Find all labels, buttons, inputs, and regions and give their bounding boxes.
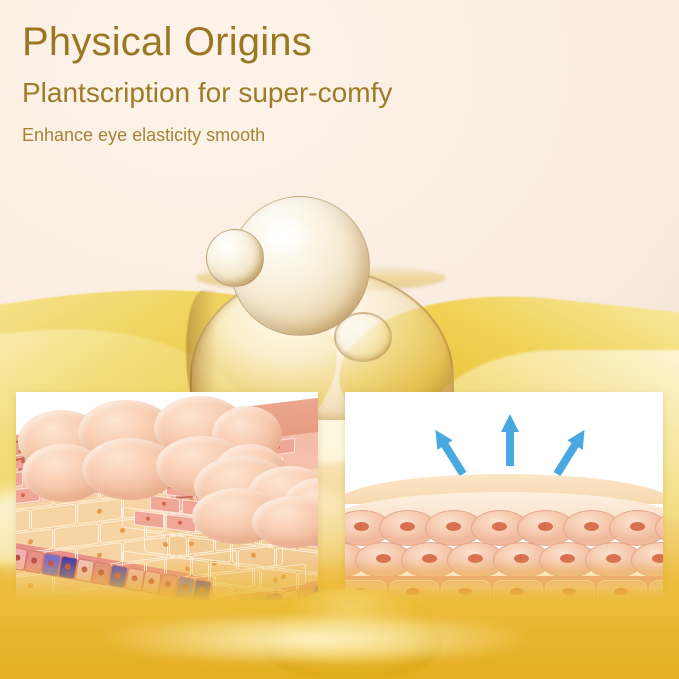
cell-nucleus: [400, 522, 415, 531]
papillary-dot: [178, 520, 182, 524]
papillary-dot: [146, 517, 150, 521]
large-sphere-highlight: [258, 214, 316, 256]
page-tagline: Enhance eye elasticity smooth: [22, 124, 642, 147]
cell-nucleus: [354, 522, 369, 531]
round-cell-row: [345, 510, 663, 544]
small-sphere: [206, 229, 264, 287]
dermis-dot: [251, 552, 256, 558]
hatch-line: [176, 496, 193, 498]
page-title: Physical Origins: [22, 20, 642, 65]
dermis-dot: [163, 542, 168, 548]
product-banner: Physical Origins Plantscription for supe…: [0, 0, 679, 679]
page-subtitle: Plantscription for super-comfy: [22, 75, 642, 110]
oil-dome-left-edge: [186, 290, 216, 408]
arrow-up: [501, 414, 519, 466]
cell-nucleus: [584, 522, 599, 531]
arrow-up-right: [549, 425, 592, 479]
header-block: Physical Origins Plantscription for supe…: [22, 20, 642, 147]
cell-nucleus: [630, 522, 645, 531]
cell-nucleus: [446, 522, 461, 531]
oil-pool-highlight: [55, 617, 575, 661]
cell-nucleus: [492, 522, 507, 531]
papillary-dot: [162, 502, 166, 506]
arrow-up-left: [428, 425, 471, 479]
cell-nucleus: [538, 522, 553, 531]
